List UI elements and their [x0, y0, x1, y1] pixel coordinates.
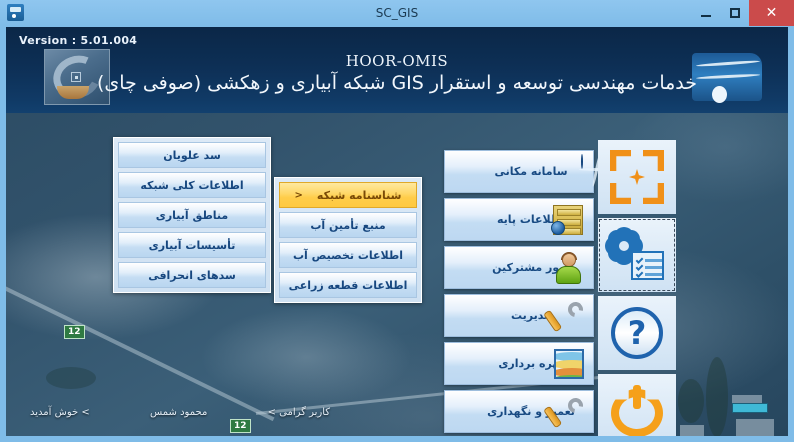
maximize-button[interactable] — [720, 0, 749, 26]
person-icon — [551, 251, 585, 285]
submenu-arrow-icon: < — [295, 190, 303, 201]
action-button-subscribers[interactable]: امور مشترکین — [444, 246, 594, 289]
cabinet-drawer — [557, 209, 581, 216]
map-vegetation — [678, 379, 704, 423]
power-bar — [633, 385, 641, 409]
window-controls: ✕ — [691, 0, 794, 26]
map-badge: 12 — [230, 419, 251, 433]
title-bar: SC_GIS ✕ — [0, 0, 794, 26]
brand-title-fa: خدمات مهندسی توسعه و استقرار GIS شبکه آب… — [6, 72, 788, 94]
power-exit-button[interactable] — [598, 374, 676, 436]
close-button[interactable]: ✕ — [749, 0, 794, 26]
action-button-maintenance[interactable]: تعمیر و نگهداری — [444, 390, 594, 433]
mid-menu-item-1[interactable]: منبع تأمین آب — [279, 212, 417, 238]
version-label: Version : 5.01.004 — [19, 34, 137, 47]
wrench-shape — [554, 398, 583, 427]
header-band: Version : 5.01.004 HOOR-OMIS خدمات مهندس… — [6, 27, 788, 113]
client-area: Version : 5.01.004 HOOR-OMIS خدمات مهندس… — [6, 27, 788, 436]
checklist-row — [645, 259, 662, 262]
user-greeting: کاربر گرامی > محمود شمس > خوش آمدید — [30, 407, 330, 418]
wrench-icon — [551, 299, 585, 333]
office-pinwheel-button[interactable] — [598, 140, 676, 214]
pinwheel-quadrant — [610, 150, 631, 171]
action-button-base-information[interactable]: اطلاعات پایه — [444, 198, 594, 241]
checkmark-icon — [636, 270, 644, 278]
left-menu-item-3[interactable]: تأسیسات آبیاری — [118, 232, 266, 258]
globe-icon — [551, 155, 585, 189]
checklist-row — [645, 266, 662, 269]
minimize-icon — [701, 15, 711, 17]
application-window: SC_GIS ✕ Version : 5.01.004 — [0, 0, 794, 442]
greeting-suffix: > خوش آمدید — [30, 407, 90, 418]
map-building — [680, 425, 704, 436]
file-cabinet-icon — [551, 203, 585, 237]
checklist-icon — [631, 251, 664, 280]
pinwheel-quadrant — [643, 150, 664, 171]
action-button-operations[interactable]: بهره برداری — [444, 342, 594, 385]
checklist-row — [645, 273, 662, 276]
mid-menu-panel: شناسنامه شبکه < منبع تأمین آب اطلاعات تخ… — [274, 177, 422, 303]
mid-menu-item-0[interactable]: شناسنامه شبکه < — [279, 182, 417, 208]
left-menu-item-4[interactable]: سدهای انحرافی — [118, 262, 266, 288]
utility-icon-strip: ? — [598, 140, 676, 436]
cabinet-globe-badge — [551, 221, 565, 235]
action-button-spatial-system[interactable]: سامانه مکانی — [444, 150, 594, 193]
left-menu-item-1[interactable]: اطلاعات کلی شبکه — [118, 172, 266, 198]
window-title: SC_GIS — [0, 0, 794, 26]
action-button-column: سامانه مکانی اطلاعات پایه امور مشتر — [444, 150, 594, 436]
maximize-icon — [730, 8, 740, 18]
left-menu-item-0[interactable]: سد علویان — [118, 142, 266, 168]
mid-menu-item-3[interactable]: اطلاعات قطعه زراعی — [279, 272, 417, 298]
map-vegetation — [706, 357, 728, 436]
left-menu-item-2[interactable]: مناطق آبیاری — [118, 202, 266, 228]
pinwheel-quadrant — [643, 183, 664, 204]
layer-band — [554, 375, 584, 379]
map-vegetation — [46, 367, 96, 389]
mid-menu-item-0-label: شناسنامه شبکه — [317, 189, 402, 202]
mid-menu-item-2[interactable]: اطلاعات تخصیص آب — [279, 242, 417, 268]
pinwheel-center — [629, 169, 645, 185]
action-button-management[interactable]: مدیریت — [444, 294, 594, 337]
person-head — [562, 253, 576, 267]
greeting-user-name: محمود شمس — [150, 407, 207, 418]
layers-icon — [551, 347, 585, 381]
office-pinwheel-icon — [610, 150, 664, 204]
person-shape — [555, 253, 582, 284]
wrench-head — [565, 395, 586, 416]
help-question-icon: ? — [611, 307, 663, 359]
map-building — [736, 419, 774, 436]
left-menu-panel: سد علویان اطلاعات کلی شبکه مناطق آبیاری … — [113, 137, 271, 293]
minimize-button[interactable] — [691, 0, 720, 26]
map-pool — [732, 403, 768, 413]
wrench-head — [565, 299, 586, 320]
greeting-prefix: کاربر گرامی > — [268, 407, 330, 418]
wrench-icon — [551, 395, 585, 429]
settings-checklist-icon — [610, 230, 664, 280]
map-badge: 12 — [64, 325, 85, 339]
person-body — [556, 266, 581, 284]
wrench-shape — [554, 302, 583, 331]
pinwheel-quadrant — [610, 183, 631, 204]
help-button[interactable]: ? — [598, 296, 676, 370]
layers-shape — [554, 349, 584, 379]
globe-shape — [581, 154, 583, 169]
settings-checklist-button[interactable] — [598, 218, 676, 292]
power-icon — [611, 385, 663, 436]
map-road — [6, 277, 274, 421]
brand-title-en: HOOR-OMIS — [6, 52, 788, 70]
